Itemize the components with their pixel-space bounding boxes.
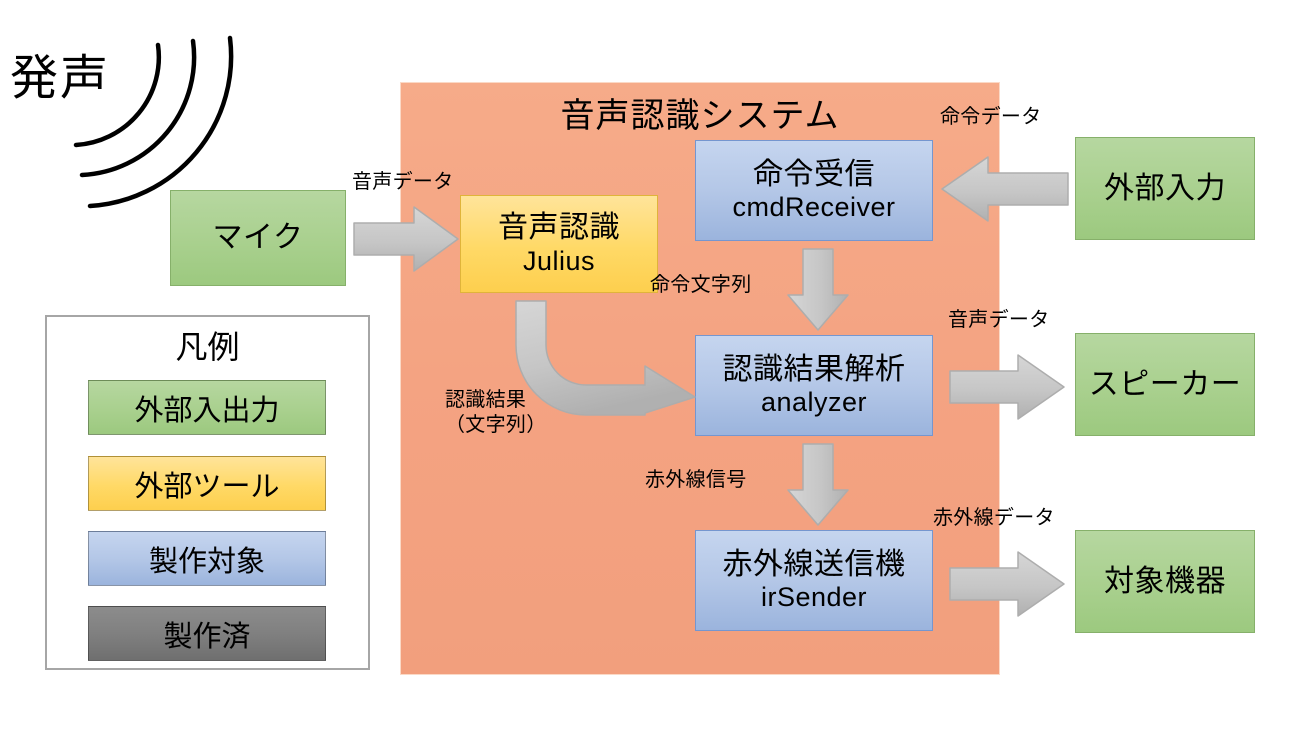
node-irsender-label-en: irSender xyxy=(761,582,867,614)
node-analyzer[interactable]: 認識結果解析 analyzer xyxy=(695,335,933,436)
edge-label-analyzer-to-speaker: 音声データ xyxy=(948,308,1050,333)
edge-label-cmdreceiver-to-analyzer: 命令文字列 xyxy=(650,273,752,298)
node-mic[interactable]: マイク xyxy=(170,190,346,286)
node-irsender-label-jp: 赤外線送信機 xyxy=(723,547,906,582)
legend-item-label: 外部ツール xyxy=(134,463,279,505)
arrow-mic-to-julius xyxy=(352,205,462,275)
node-cmdreceiver[interactable]: 命令受信 cmdReceiver xyxy=(695,140,933,241)
legend-title: 凡例 xyxy=(45,322,370,368)
node-cmdreceiver-label-jp: 命令受信 xyxy=(753,157,875,192)
node-external-input[interactable]: 外部入力 xyxy=(1075,137,1255,240)
edge-label-analyzer-to-irsender: 赤外線信号 xyxy=(645,468,747,493)
arrow-external-input-to-cmdreceiver xyxy=(940,155,1070,225)
node-analyzer-label-en: analyzer xyxy=(761,387,867,419)
edge-label-julius-to-analyzer: 認識結果 （文字列） xyxy=(445,388,547,438)
arrow-irsender-to-target-device xyxy=(948,550,1068,620)
node-mic-label: マイク xyxy=(213,220,304,255)
node-speaker-label: スピーカー xyxy=(1089,367,1242,402)
node-analyzer-label-jp: 認識結果解析 xyxy=(723,352,906,387)
arrow-analyzer-to-speaker xyxy=(948,353,1068,423)
node-speaker[interactable]: スピーカー xyxy=(1075,333,1255,436)
node-irsender[interactable]: 赤外線送信機 irSender xyxy=(695,530,933,631)
legend-item-already-built[interactable]: 製作済 xyxy=(88,606,326,661)
legend-item-label: 製作対象 xyxy=(149,538,265,580)
node-julius-label-en: Julius xyxy=(523,246,595,278)
legend-item-label: 製作済 xyxy=(163,613,250,655)
diagram-canvas: 発声 マイク 凡例 外部入出力 外部ツール 製作対象 製作済 音声認識システム … xyxy=(0,0,1300,731)
system-title: 音声認識システム xyxy=(400,88,1000,137)
arrow-analyzer-to-irsender xyxy=(786,442,850,527)
edge-label-irsender-to-target-device: 赤外線データ xyxy=(933,506,1055,531)
node-target-device-label: 対象機器 xyxy=(1104,564,1226,599)
legend-item-external-io[interactable]: 外部入出力 xyxy=(88,380,326,435)
edge-label-mic-to-julius: 音声データ xyxy=(352,170,454,195)
node-external-input-label: 外部入力 xyxy=(1104,171,1226,206)
arrow-cmdreceiver-to-analyzer xyxy=(786,247,850,332)
edge-label-external-input-to-cmdreceiver: 命令データ xyxy=(940,105,1042,130)
node-julius[interactable]: 音声認識 Julius xyxy=(460,195,658,293)
legend-item-build-target[interactable]: 製作対象 xyxy=(88,531,326,586)
legend-item-external-tool[interactable]: 外部ツール xyxy=(88,456,326,511)
node-cmdreceiver-label-en: cmdReceiver xyxy=(732,192,895,224)
legend-item-label: 外部入出力 xyxy=(134,387,279,429)
node-julius-label-jp: 音声認識 xyxy=(498,210,620,245)
node-target-device[interactable]: 対象機器 xyxy=(1075,530,1255,633)
